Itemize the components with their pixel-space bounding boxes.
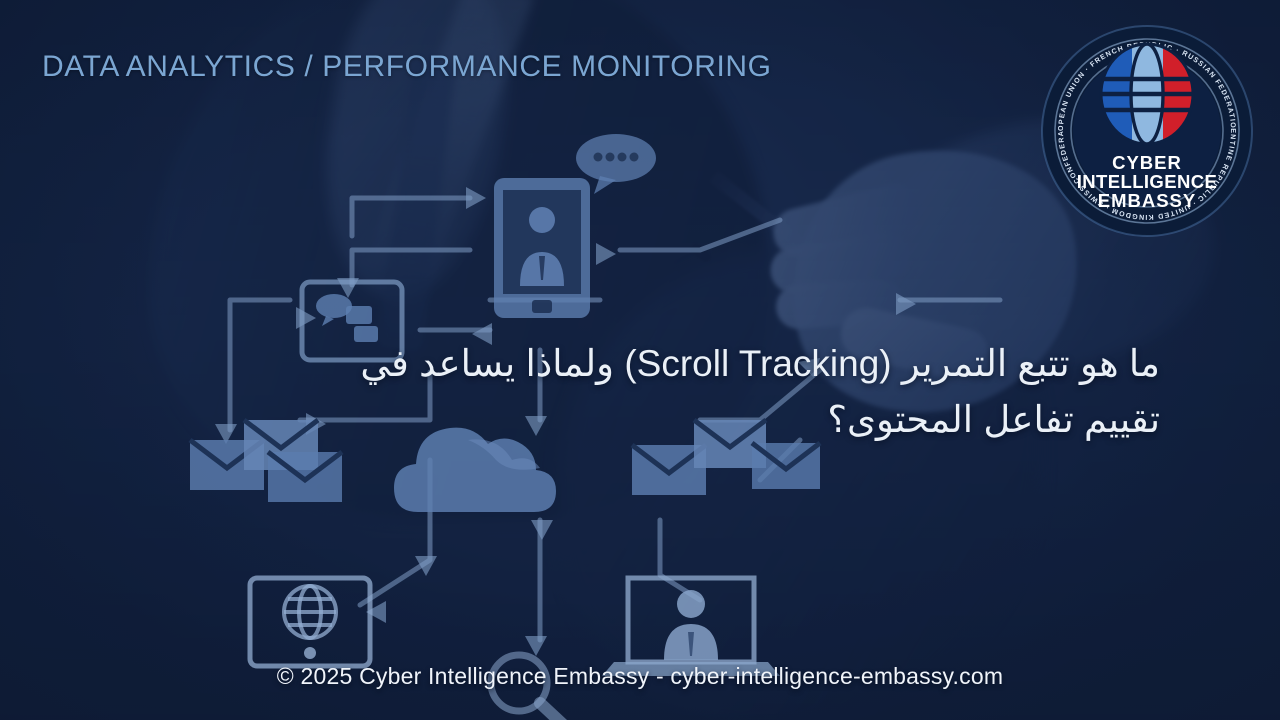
laptop-user-icon bbox=[602, 578, 780, 676]
seal-name-line-2: INTELLIGENCE bbox=[1077, 171, 1217, 192]
seal-name-line-1: CYBER bbox=[1112, 152, 1182, 173]
page-title-line-2: تقييم تفاعل المحتوى؟ bbox=[200, 392, 1160, 448]
footer-copyright: © 2025 Cyber Intelligence Embassy - cybe… bbox=[0, 663, 1280, 690]
page-kicker: DATA ANALYTICS / PERFORMANCE MONITORING bbox=[42, 50, 772, 84]
tablet-user-icon bbox=[494, 178, 590, 318]
cyber-intelligence-embassy-logo[interactable]: UNITED STATES OF AMERICA · EUROPEAN UNIO… bbox=[1038, 22, 1256, 240]
page-title-line-1: ما هو تتبع التمرير (Scroll Tracking) ولم… bbox=[200, 336, 1160, 392]
envelope-icon bbox=[268, 452, 342, 502]
globe-icon bbox=[1101, 44, 1195, 144]
seal-name-line-3: EMBASSY bbox=[1098, 190, 1197, 211]
page-title: ما هو تتبع التمرير (Scroll Tracking) ولم… bbox=[200, 336, 1160, 448]
globe-monitor-icon bbox=[250, 578, 370, 666]
envelope-icon bbox=[752, 443, 820, 489]
slide-canvas: DATA ANALYTICS / PERFORMANCE MONITORING … bbox=[0, 0, 1280, 720]
